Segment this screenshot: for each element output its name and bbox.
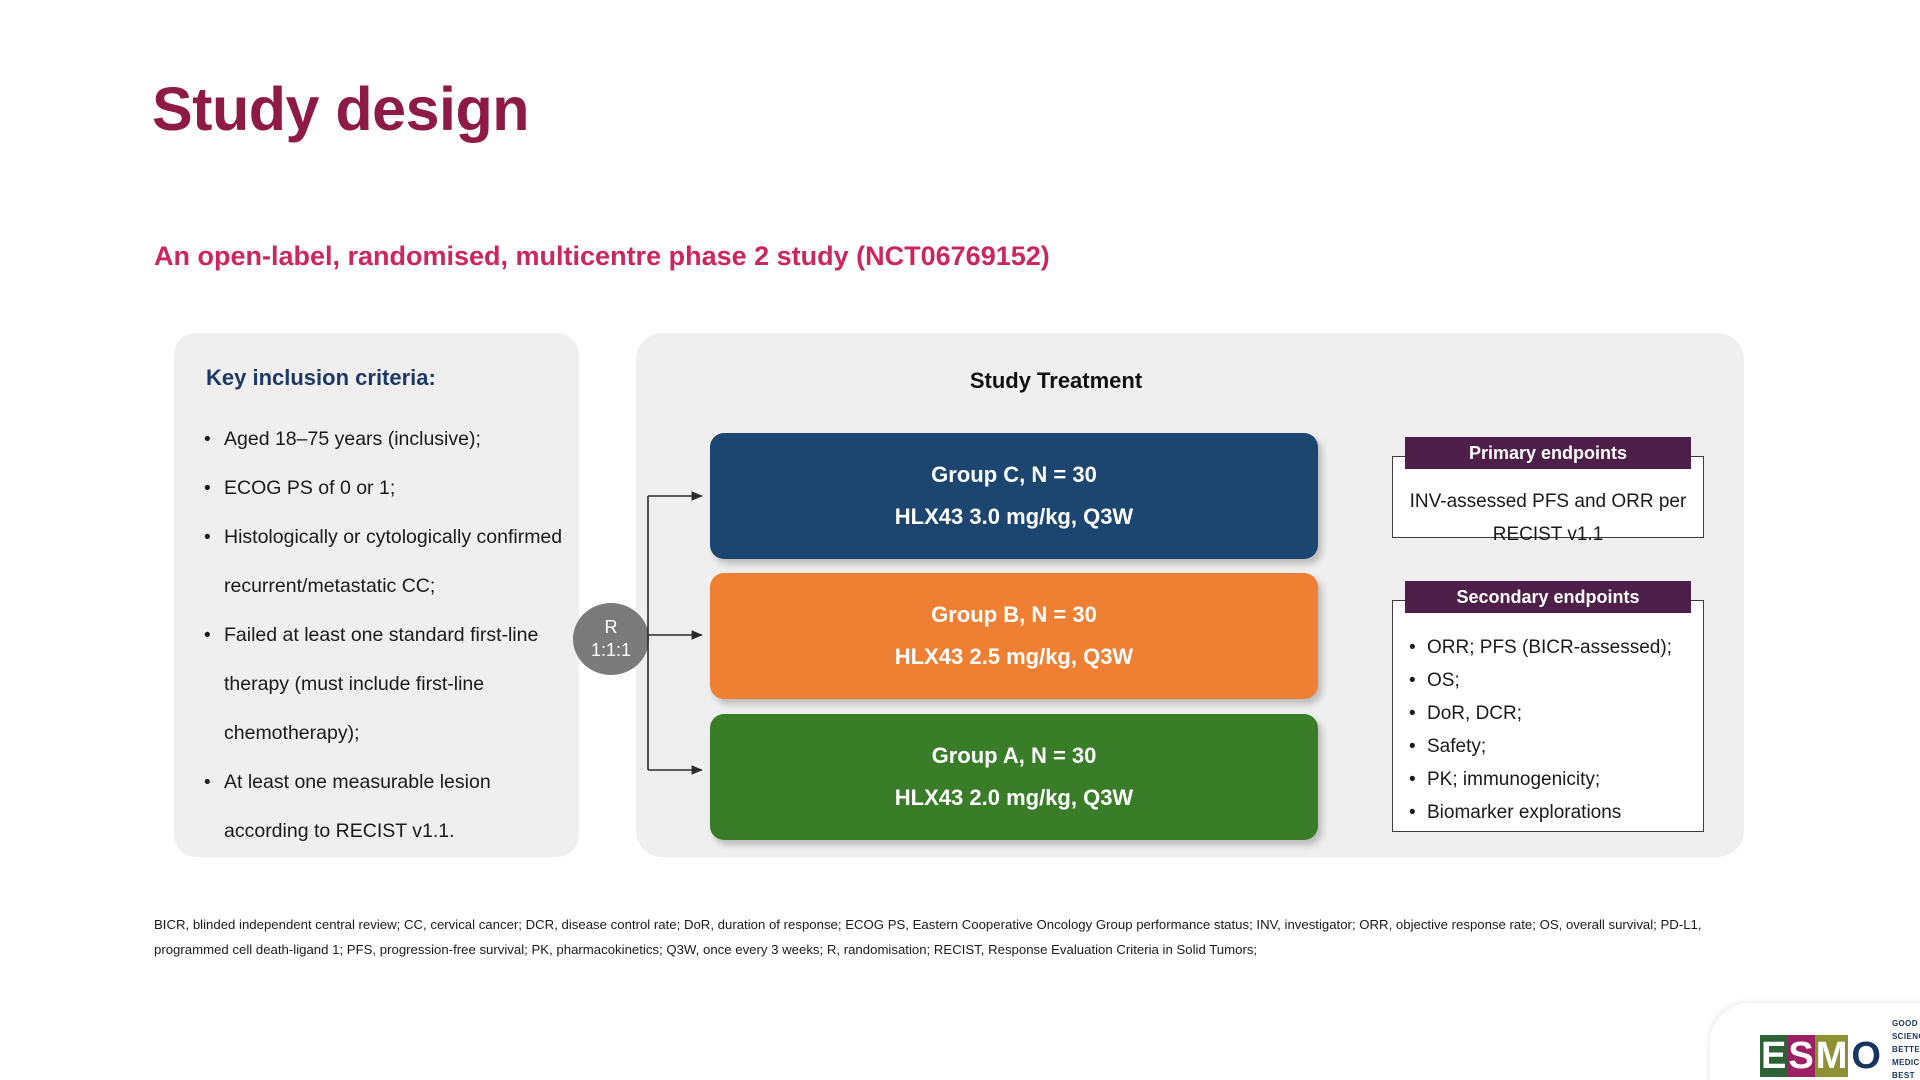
arm-dose: HLX43 2.5 mg/kg, Q3W — [895, 636, 1133, 678]
list-item: ORR; PFS (BICR-assessed); — [1407, 631, 1701, 664]
study-treatment-heading: Study Treatment — [636, 368, 1476, 394]
list-item: PK; immunogenicity; — [1407, 763, 1701, 796]
secondary-endpoints-list: ORR; PFS (BICR-assessed); OS; DoR, DCR; … — [1407, 631, 1701, 829]
arm-dose: HLX43 3.0 mg/kg, Q3W — [895, 496, 1133, 538]
tagline-line: BETTER MEDICINE — [1892, 1043, 1920, 1069]
arm-title: Group C, N = 30 — [931, 454, 1097, 496]
list-item: Histologically or cytologically confirme… — [198, 513, 578, 611]
esmo-letter-m: M — [1815, 1035, 1849, 1077]
secondary-endpoints-header: Secondary endpoints — [1405, 581, 1691, 613]
list-item: OS; — [1407, 664, 1701, 697]
esmo-logo: E S M O GOOD SCIENCE BETTER MEDICINE BES… — [1760, 1017, 1920, 1080]
list-item: Safety; — [1407, 730, 1701, 763]
randomisation-node: R 1:1:1 — [573, 603, 649, 675]
inclusion-criteria-panel: Key inclusion criteria: Aged 18–75 years… — [174, 333, 579, 857]
abbreviations-footnote: BICR, blinded independent central review… — [154, 912, 1730, 962]
list-item: Aged 18–75 years (inclusive); — [198, 415, 578, 464]
treatment-arm-group-a: Group A, N = 30 HLX43 2.0 mg/kg, Q3W — [710, 714, 1318, 840]
esmo-letter-e: E — [1760, 1035, 1787, 1077]
list-item: Failed at least one standard first-line … — [198, 611, 578, 758]
esmo-wordmark: E S M O — [1760, 1035, 1882, 1077]
arm-title: Group B, N = 30 — [931, 594, 1097, 636]
esmo-letter-o: O — [1848, 1035, 1882, 1077]
list-item: Biomarker explorations — [1407, 796, 1701, 829]
tagline-line: BEST PRACTICE — [1892, 1069, 1920, 1080]
page-subtitle: An open-label, randomised, multicentre p… — [154, 241, 1050, 272]
esmo-letter-s: S — [1787, 1035, 1814, 1077]
randomisation-ratio: 1:1:1 — [591, 639, 631, 662]
list-item: At least one measurable lesion according… — [198, 758, 578, 856]
list-item: ECOG PS of 0 or 1; — [198, 464, 578, 513]
tagline-line: GOOD SCIENCE — [1892, 1017, 1920, 1043]
treatment-arm-group-b: Group B, N = 30 HLX43 2.5 mg/kg, Q3W — [710, 573, 1318, 699]
esmo-tagline: GOOD SCIENCE BETTER MEDICINE BEST PRACTI… — [1892, 1017, 1920, 1080]
inclusion-criteria-heading: Key inclusion criteria: — [206, 365, 436, 391]
randomisation-label: R — [605, 616, 618, 639]
secondary-endpoints-card: Secondary endpoints ORR; PFS (BICR-asses… — [1392, 600, 1704, 832]
treatment-arm-group-c: Group C, N = 30 HLX43 3.0 mg/kg, Q3W — [710, 433, 1318, 559]
slide-canvas: Study design An open-label, randomised, … — [0, 0, 1920, 1080]
list-item: DoR, DCR; — [1407, 697, 1701, 730]
primary-endpoints-card: Primary endpoints INV-assessed PFS and O… — [1392, 456, 1704, 538]
page-title: Study design — [152, 74, 529, 144]
primary-endpoints-header: Primary endpoints — [1405, 437, 1691, 469]
inclusion-criteria-list: Aged 18–75 years (inclusive); ECOG PS of… — [198, 415, 578, 856]
arm-title: Group A, N = 30 — [932, 735, 1097, 777]
primary-endpoints-body: INV-assessed PFS and ORR per RECIST v1.1 — [1393, 485, 1703, 551]
arm-dose: HLX43 2.0 mg/kg, Q3W — [895, 777, 1133, 819]
